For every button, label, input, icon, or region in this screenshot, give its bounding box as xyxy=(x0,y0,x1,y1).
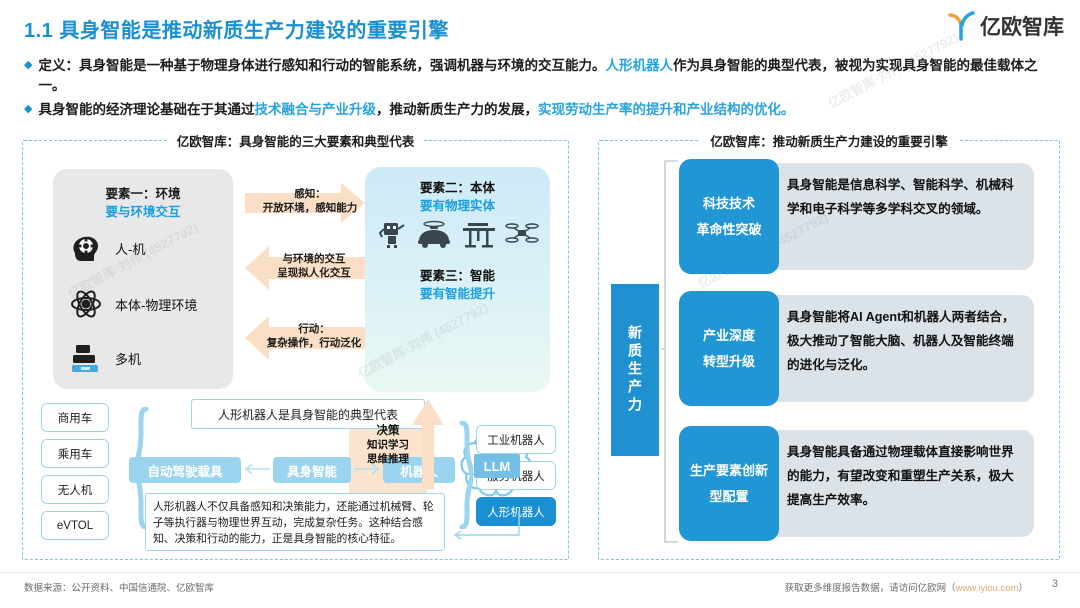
robot-type-item[interactable]: 工业机器人 xyxy=(476,425,556,454)
right-panel-caption: 亿欧智库：推动新质生产力建设的重要引擎 xyxy=(599,131,1059,150)
left-panel-caption: 亿欧智库：具身智能的三大要素和典型代表 xyxy=(23,131,568,150)
element-two-subheading: 要有物理实体 xyxy=(365,195,550,214)
drone-icon xyxy=(505,218,539,253)
engine-row-key: 产业深度 转型升级 xyxy=(679,291,779,406)
flow-node-autonomous[interactable]: 自动驾驶载具 xyxy=(129,457,241,483)
grouping-bracket-icon xyxy=(661,159,679,544)
footer-source: 数据来源：公开资料、中国信通院、亿欧智库 xyxy=(24,580,214,594)
element-one-item-label: 本体-物理环境 xyxy=(115,295,197,314)
category-item[interactable]: 商用车 xyxy=(41,403,109,432)
llm-badge: LLM xyxy=(474,454,520,478)
element-three-heading: 要素三：智能 xyxy=(365,265,550,284)
engine-row-key: 生产要素创新 型配置 xyxy=(679,426,779,541)
multi-machine-icon xyxy=(69,341,103,375)
flow-banner-label: 人形机器人是具身智能的典型代表 xyxy=(218,406,398,423)
category-item[interactable]: eVTOL xyxy=(41,511,109,540)
flow-node-embodied[interactable]: 具身智能 xyxy=(273,457,351,483)
new-productivity-bar: 新质生产力 xyxy=(611,284,659,456)
element-two-heading: 要素二：本体 xyxy=(365,177,550,196)
bullet-marker-icon: ◆ xyxy=(24,100,32,118)
bullet-text: 具身智能的经济理论基础在于其通过技术融合与产业升级，推动新质生产力的发展，实现劳… xyxy=(38,100,794,120)
engine-row: 产业深度 转型升级 • 具身智能将AI Agent和机器人两者结合，极大推动了智… xyxy=(679,291,1039,406)
element-three-subheading: 要有智能提升 xyxy=(365,283,550,302)
element-one-item-label: 人-机 xyxy=(115,239,145,258)
bullet-item: ◆ 具身智能的经济理论基础在于其通过技术融合与产业升级，推动新质生产力的发展，实… xyxy=(24,100,1059,120)
element-one-item: 本体-物理环境 xyxy=(69,287,197,321)
car-icon xyxy=(414,217,454,254)
decision-label: 决策 知识学习 思维推理 xyxy=(357,424,419,466)
robot-icon xyxy=(377,217,407,254)
engine-row-value: • 具身智能将AI Agent和机器人两者结合，极大推动了智能大脑、机器人及智能… xyxy=(739,295,1034,402)
brand-logo: 亿欧智库 xyxy=(946,8,1064,44)
bullet-text: 定义：具身智能是一种基于物理身体进行感知和行动的智能系统，强调机器与环境的交互能… xyxy=(38,56,1059,96)
element-two-three-card: 要素二：本体 要有物理实体 xyxy=(365,167,550,392)
left-diagram-panel: 亿欧智库：具身智能的三大要素和典型代表 要素一：环境 要与环境交互 xyxy=(22,140,569,560)
element-one-card: 要素一：环境 要与环境交互 人-机 xyxy=(53,169,233,389)
head-gear-icon xyxy=(69,231,103,265)
page-title: 1.1 具身智能是推动新质生产力建设的重要引擎 xyxy=(24,14,449,43)
category-item[interactable]: 无人机 xyxy=(41,475,109,504)
slide-page: 1.1 具身智能是推动新质生产力建设的重要引擎 亿欧智库 ◆ 定义：具身智能是一… xyxy=(0,0,1080,608)
footer-note: 获取更多维度报告数据，请访问亿欧网（www.iyiou.com） xyxy=(785,580,1028,594)
machine-arm-icon xyxy=(460,217,498,254)
atom-icon xyxy=(69,287,103,321)
physical-entity-icons xyxy=(377,215,539,255)
element-one-item-label: 多机 xyxy=(115,349,141,368)
arrow-perception-label: 感知：开放环境，感知能力 xyxy=(245,187,375,215)
description-box: 人形机器人不仅具备感知和决策能力，还能通过机械臂、轮子等执行器与物理世界互动，完… xyxy=(145,493,445,551)
element-one-item: 人-机 xyxy=(69,231,145,265)
engine-row: 科技技术 革命性突破 • 具身智能是信息科学、智能科学、机械科学和电子科学等多学… xyxy=(679,159,1039,274)
right-diagram-panel: 亿欧智库：推动新质生产力建设的重要引擎 新质生产力 科技技术 革命性突破 • 具… xyxy=(598,140,1060,560)
bullet-marker-icon: ◆ xyxy=(24,56,32,74)
element-one-item: 多机 xyxy=(69,341,141,375)
iyiou-website-link[interactable]: www.iyiou.com xyxy=(956,583,1019,594)
engine-row-key: 科技技术 革命性突破 xyxy=(679,159,779,274)
element-one-subheading: 要与环境交互 xyxy=(53,201,233,220)
iyiou-sprout-logo-icon xyxy=(946,10,976,42)
engine-row-value: • 具身智能是信息科学、智能科学、机械科学和电子科学等多学科交叉的领域。 xyxy=(739,163,1034,270)
engine-row-value-text: 具身智能是信息科学、智能科学、机械科学和电子科学等多学科交叉的领域。 xyxy=(787,178,1014,216)
arrow-interaction-label: 与环境的交互呈现拟人化交互 xyxy=(249,252,379,280)
engine-row: 生产要素创新 型配置 • 具身智能具备通过物理载体直接影响世界的能力，有望改变和… xyxy=(679,426,1039,541)
flow-arrow-left-icon xyxy=(243,462,271,481)
engine-row-value-text: 具身智能将AI Agent和机器人两者结合，极大推动了智能大脑、机器人及智能终端… xyxy=(787,310,1015,372)
element-one-heading: 要素一：环境 xyxy=(53,183,233,202)
engine-row-value-text: 具身智能具备通过物理载体直接影响世界的能力，有望改变和重塑生产关系，极大提高生产… xyxy=(787,445,1014,507)
footer-divider xyxy=(0,572,1080,573)
logo-text: 亿欧智库 xyxy=(980,11,1064,41)
category-item[interactable]: 乘用车 xyxy=(41,439,109,468)
connector-line-icon xyxy=(447,511,521,548)
bullet-list: ◆ 定义：具身智能是一种基于物理身体进行感知和行动的智能系统，强调机器与环境的交… xyxy=(24,56,1059,124)
engine-row-value: • 具身智能具备通过物理载体直接影响世界的能力，有望改变和重塑生产关系，极大提高… xyxy=(739,430,1034,537)
arrow-action-label: 行动：复杂操作，行动泛化 xyxy=(249,322,379,350)
page-number: 3 xyxy=(1052,578,1058,590)
bullet-item: ◆ 定义：具身智能是一种基于物理身体进行感知和行动的智能系统，强调机器与环境的交… xyxy=(24,56,1059,96)
